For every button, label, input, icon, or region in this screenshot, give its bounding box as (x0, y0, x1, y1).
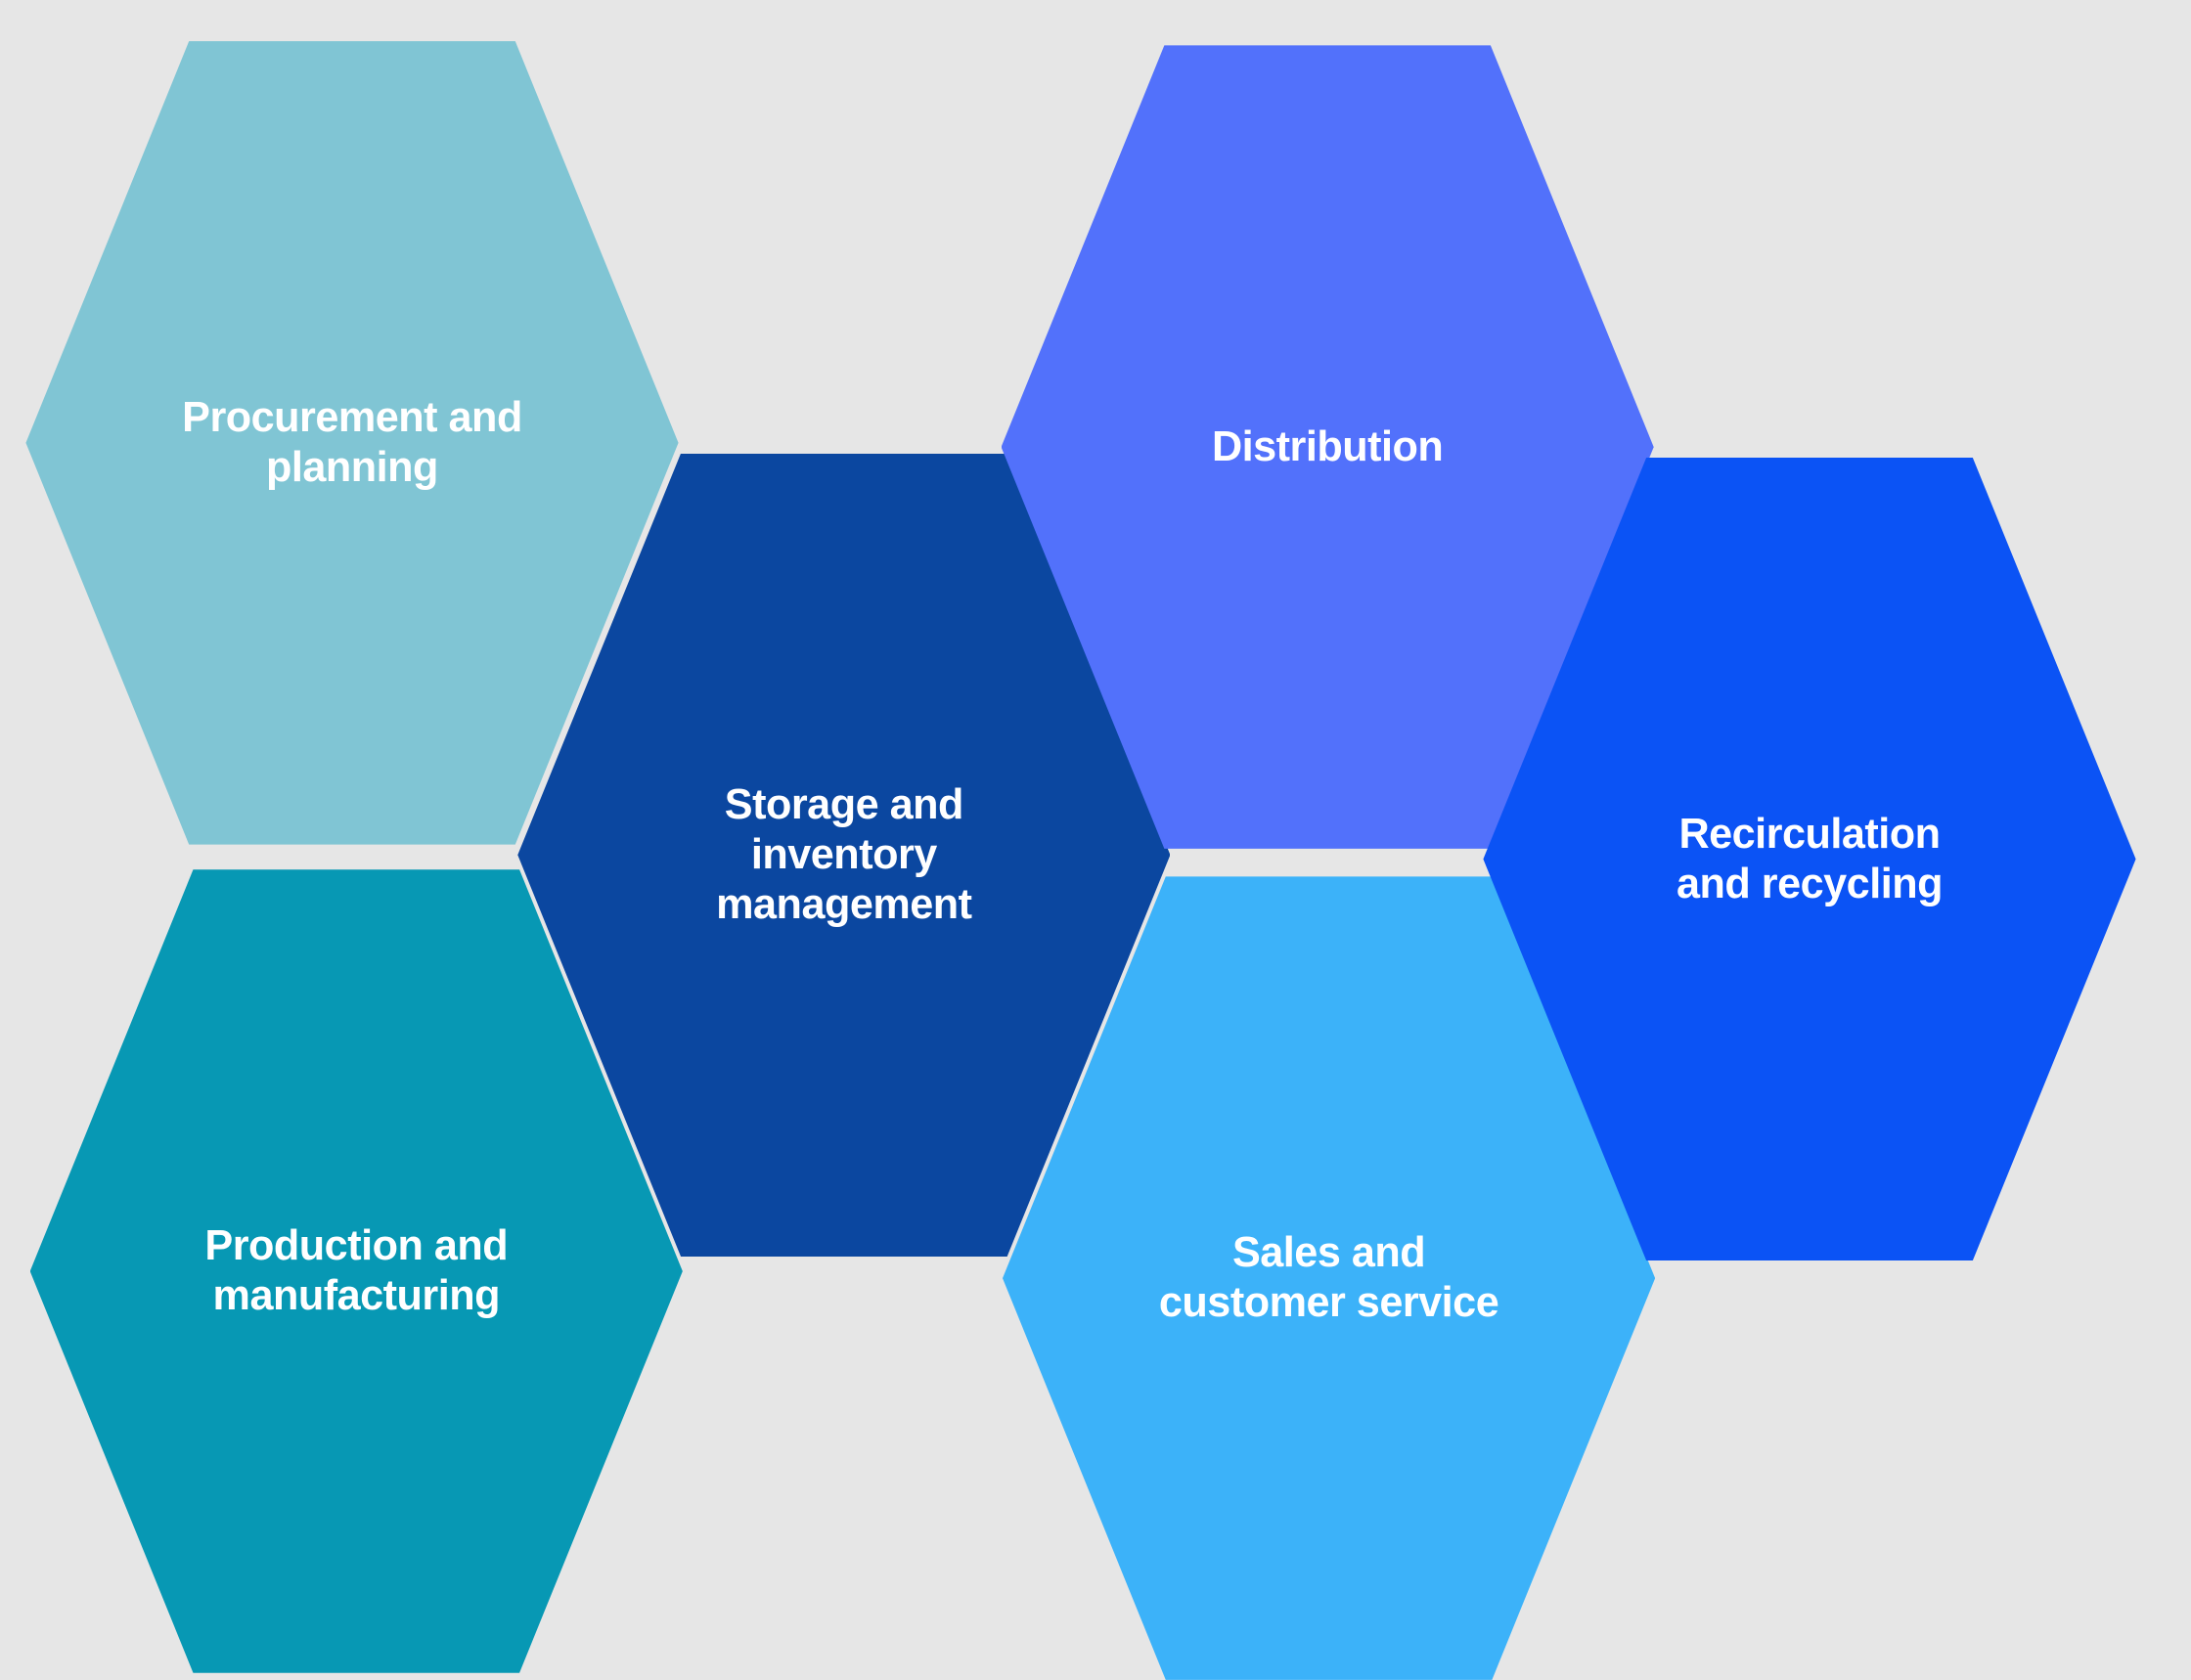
hexagon-label-distribution: Distribution (1173, 422, 1482, 472)
hexagon-diagram-canvas: Procurement and planningProduction and m… (0, 0, 2191, 1232)
hexagon-label-recirculation-and-recycling: Recirculation and recycling (1637, 810, 1982, 909)
hexagon-label-sales-and-customer-service: Sales and customer service (1120, 1228, 1538, 1328)
hexagon-label-procurement-and-planning: Procurement and planning (143, 393, 561, 493)
hexagon-label-storage-and-inventory-management: Storage and inventory management (677, 780, 1010, 930)
hexagon-label-production-and-manufacturing: Production and manufacturing (165, 1221, 547, 1321)
